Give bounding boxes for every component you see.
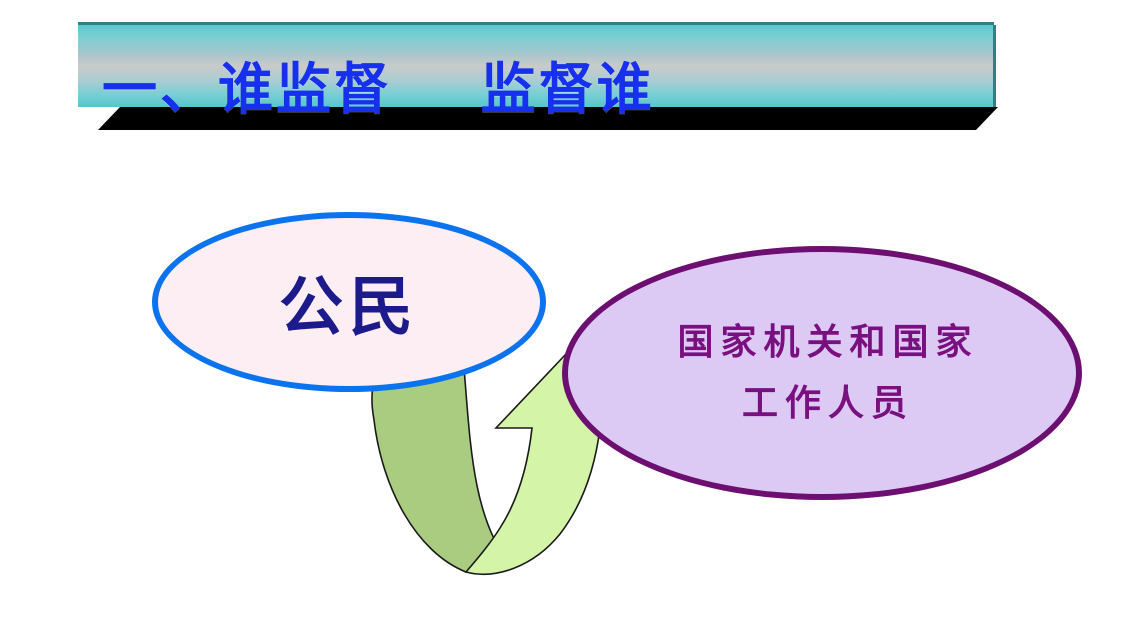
state-organs-label: 国家机关和国家 工作人员 — [677, 312, 978, 434]
page-title: 一、谁监督 监督谁 — [78, 25, 993, 107]
page-title-text: 一、谁监督 监督谁 — [102, 61, 655, 116]
title-banner: 一、谁监督 监督谁 — [78, 22, 998, 140]
citizen-label: 公民 — [279, 276, 419, 340]
state-organs-ellipse: 国家机关和国家 工作人员 — [562, 246, 1082, 500]
slide-canvas: 一、谁监督 监督谁 公民 国家机关和国家 工作人员 — [0, 0, 1134, 638]
banner-right-edge — [993, 25, 996, 107]
citizen-ellipse: 公民 — [152, 212, 546, 392]
